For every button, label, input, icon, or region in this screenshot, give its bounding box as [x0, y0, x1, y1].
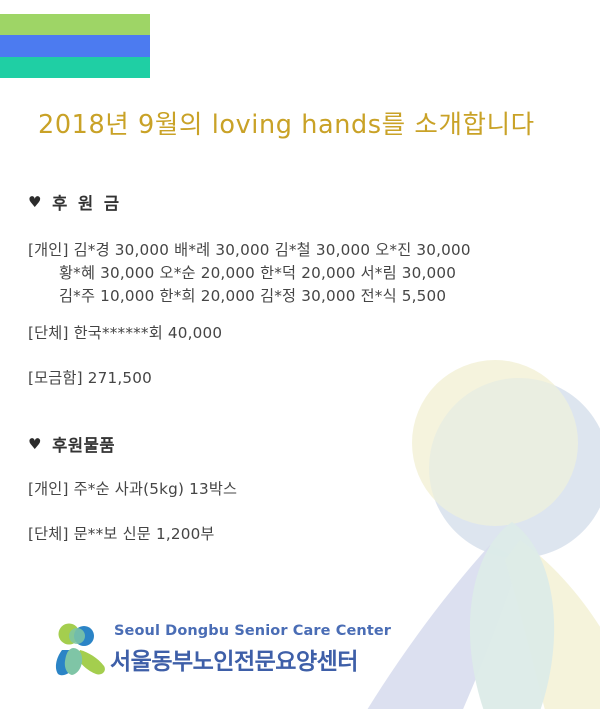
section-title: 후원물품 — [52, 432, 115, 456]
watermark-body-teal — [470, 522, 554, 709]
document-page: 2018년 9월의 loving hands를 소개합니다 ♥ 후 원 금 [개… — [0, 0, 600, 709]
person-circles-logo-icon — [52, 622, 110, 678]
donation-line-collection-box: [모금함] 271,500 — [28, 367, 574, 390]
teal-bar — [0, 57, 150, 78]
donation-line-individual-2: 황*혜 30,000 오*순 20,000 한*덕 20,000 서*림 30,… — [28, 262, 574, 285]
banner-color-bars — [0, 14, 150, 78]
green-bar — [0, 14, 150, 35]
section-heading-donation-money: ♥ 후 원 금 — [28, 190, 574, 214]
section-heading-donation-goods: ♥ 후원물품 — [28, 432, 574, 456]
page-title: 2018년 9월의 loving hands를 소개합니다 — [38, 104, 535, 141]
heart-icon: ♥ — [28, 437, 43, 452]
footer-logo: Seoul Dongbu Senior Care Center 서울동부노인전문… — [52, 618, 352, 682]
donation-line-organization: [단체] 한국******회 40,000 — [28, 322, 574, 345]
goods-line-organization: [단체] 문**보 신문 1,200부 — [28, 523, 574, 546]
logo-name-korean: 서울동부노인전문요양센터 — [110, 642, 358, 676]
donation-line-individual-3: 김*주 10,000 한*희 20,000 김*정 30,000 전*식 5,5… — [28, 285, 574, 308]
watermark-body-yellow — [505, 540, 600, 709]
donation-line-individual-1: [개인] 김*경 30,000 배*례 30,000 김*철 30,000 오*… — [28, 239, 574, 262]
section-title: 후 원 금 — [52, 190, 122, 214]
heart-icon: ♥ — [28, 195, 43, 210]
blue-bar — [0, 35, 150, 56]
logo-name-english: Seoul Dongbu Senior Care Center — [114, 623, 391, 639]
goods-line-individual: [개인] 주*순 사과(5kg) 13박스 — [28, 478, 574, 501]
document-body: ♥ 후 원 금 [개인] 김*경 30,000 배*례 30,000 김*철 3… — [28, 190, 574, 546]
